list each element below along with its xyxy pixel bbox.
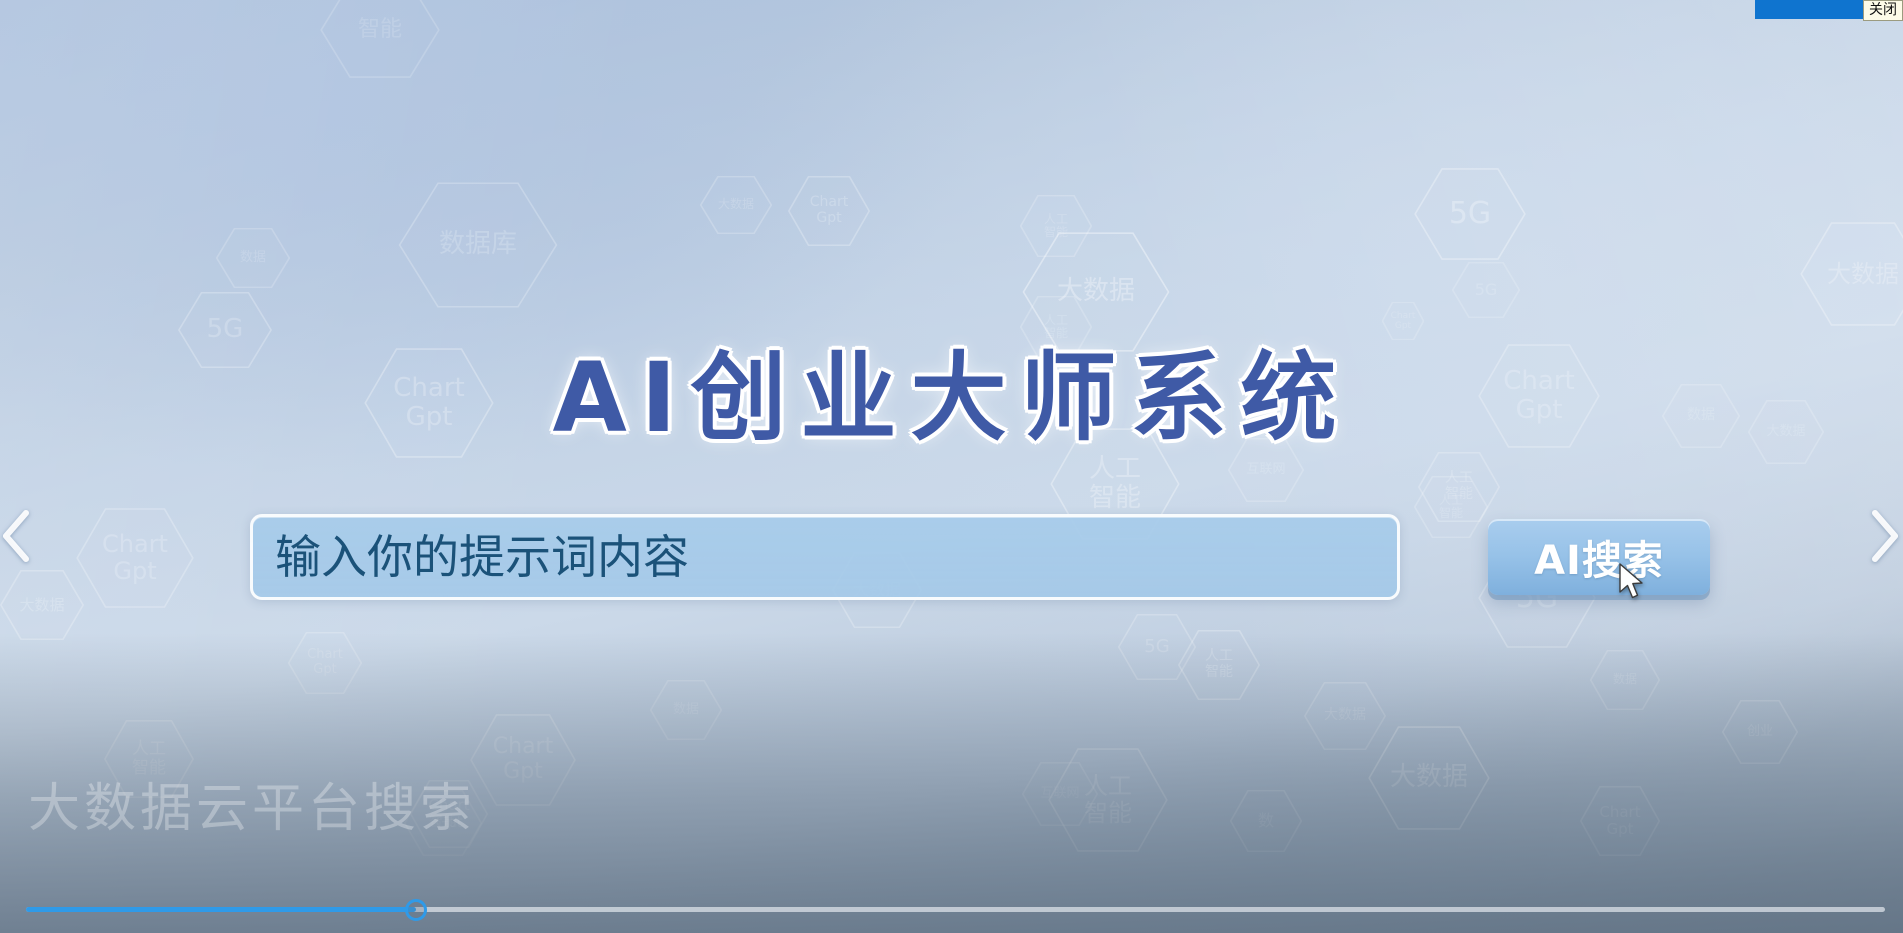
background-hexagon-tag: Chart Gpt xyxy=(470,714,576,806)
background-hexagon-label: 人工 智能 xyxy=(1048,748,1168,852)
background-hexagon-label: 5G xyxy=(1414,168,1526,260)
background-hexagon-label: 数据库 xyxy=(398,182,558,308)
background-sheen xyxy=(0,0,1903,933)
background-hexagon-label: Chart Gpt xyxy=(410,780,488,848)
background-hexagon-tag: Chart Gpt xyxy=(788,176,870,246)
background-hexagon-label: 5G xyxy=(1118,614,1196,680)
background-hexagon-label: 人工 智能 xyxy=(104,720,194,798)
background-hexagon-label: 数据 xyxy=(216,228,290,288)
background-hexagon-tag: 人工 智能 xyxy=(104,720,194,798)
ai-startup-master-app: 智能数据库数据5G大数据Chart Gpt人工 智能大数据人工 智能5G5G大数… xyxy=(0,0,1903,933)
background-hexagon-label: 人工 智能 xyxy=(1020,195,1092,257)
progress-handle[interactable] xyxy=(405,899,427,921)
background-hexagon-tag: 5G xyxy=(1118,614,1196,680)
search-row: AI搜索 xyxy=(250,512,1710,602)
background-hexagon-tag: Chart Gpt xyxy=(410,780,488,848)
background-hexagon-label: 智能 xyxy=(320,0,440,78)
background-hexagon-label: Chart Gpt xyxy=(788,176,870,246)
background-hexagon-label: 互联网 xyxy=(1022,762,1098,826)
window-restore-button[interactable] xyxy=(1755,0,1867,19)
background-hexagon-label: 数 xyxy=(1230,790,1302,852)
background-hexagon-label: 大数据 xyxy=(1800,222,1903,326)
background-hexagon-tag: 互联网 xyxy=(1022,762,1098,826)
background-hexagon-label: 大数据 xyxy=(1368,726,1490,830)
background-hexagon-tag: Chart Gpt xyxy=(288,632,362,694)
background-hexagon-tag: 创业 xyxy=(1722,700,1798,764)
background-hexagon-label: 大数据 xyxy=(700,176,772,234)
background-hexagon-tag: 人工 智能 xyxy=(1178,630,1260,700)
background-hexagon-label: 智能 xyxy=(404,790,482,856)
background-hexagon-label: 数据 xyxy=(650,680,722,740)
background-hexagon-tag: 智能 xyxy=(320,0,440,78)
background-hexagon-label: 大数据 xyxy=(1304,682,1386,750)
platform-watermark: 大数据云平台搜索 xyxy=(28,766,476,841)
progress-slider[interactable] xyxy=(26,899,1885,921)
background-hexagon-tag: 大数据 xyxy=(1304,682,1386,750)
background-hexagon-label: 大数据 xyxy=(0,570,84,640)
background-hexagon-label: 5G xyxy=(1452,262,1520,318)
background-hexagon-tag: 大数据 xyxy=(1368,726,1490,830)
background-hexagon-tag: 大数据 xyxy=(700,176,772,234)
ai-search-button[interactable]: AI搜索 xyxy=(1488,519,1710,595)
close-tooltip: 关闭 xyxy=(1863,0,1903,21)
background-hexagon-label: 人工 智能 xyxy=(1178,630,1260,700)
background-hexagon-label: Chart Gpt xyxy=(1580,786,1660,856)
chevron-left-icon[interactable] xyxy=(0,505,40,567)
background-hexagon-label: Chart Gpt xyxy=(76,508,194,608)
background-hexagon-label: Chart Gpt xyxy=(470,714,576,806)
background-hexagon-tag: 大数据 xyxy=(0,570,84,640)
background-hexagon-label: Chart Gpt xyxy=(288,632,362,694)
progress-fill xyxy=(26,907,416,912)
background-hexagon-tag: 5G xyxy=(1452,262,1520,318)
background-hexagon-tag: 5G xyxy=(1414,168,1526,260)
background-bottom-fade xyxy=(0,633,1903,933)
background-hexagon-tag: 数据库 xyxy=(398,182,558,308)
background-hexagon-tag: 人工 智能 xyxy=(1048,748,1168,852)
background-hexagon-tag: 数据 xyxy=(650,680,722,740)
background-hexagon-tag: 数 xyxy=(1230,790,1302,852)
chevron-right-icon[interactable] xyxy=(1861,505,1903,567)
background-hexagon-tag: 数据 xyxy=(216,228,290,288)
background-hexagon-label: 创业 xyxy=(1722,700,1798,764)
background-hexagon-label: 数据 xyxy=(1590,650,1660,710)
background-hexagon-tag: 智能 xyxy=(404,790,482,856)
background-hexagon-tag: 数据 xyxy=(1590,650,1660,710)
search-input[interactable] xyxy=(250,514,1400,600)
background-hexagon-tag: Chart Gpt xyxy=(1580,786,1660,856)
background-hexagon-tag: 大数据 xyxy=(1800,222,1903,326)
background-hexagon-tag: Chart Gpt xyxy=(76,508,194,608)
background-hexagon-tag: 人工 智能 xyxy=(1020,195,1092,257)
page-title: AI创业大师系统 xyxy=(0,320,1903,459)
